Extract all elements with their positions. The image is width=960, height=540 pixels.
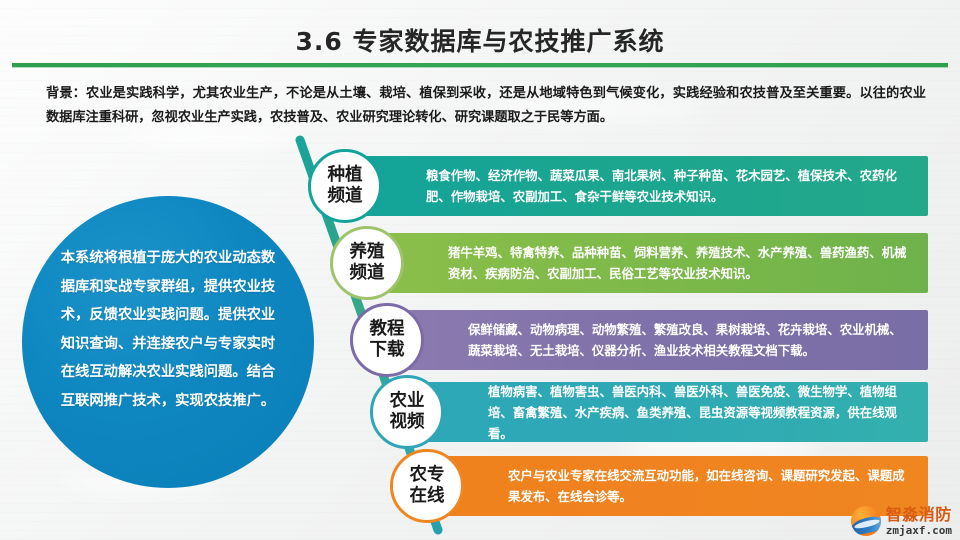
channel-row-agriculture-video[interactable]: 植物病害、植物害虫、兽医内科、兽医外科、兽医免疫、微生物学、植物组培、畜禽繁殖、… (392, 382, 928, 442)
channel-description: 保鲜储藏、动物病理、动物繁殖、繁殖改良、果树栽培、花卉栽培、农业机械、蔬菜栽培、… (372, 319, 928, 361)
watermark-text-block: 智淼消防 zmjaxf.com (886, 507, 952, 536)
channel-description: 粮食作物、经济作物、蔬菜瓜果、南北果树、种子种苗、花木园艺、植保技术、农药化肥、… (330, 165, 928, 207)
channel-bar: 粮食作物、经济作物、蔬菜瓜果、南北果树、种子种苗、花木园艺、植保技术、农药化肥、… (330, 156, 928, 216)
summary-circle: 本系统将根植于庞大的农业动态数据库和实战专家群组，提供农业技术，反馈农业实践问题… (22, 196, 314, 488)
slide-canvas: 3.6 专家数据库与农技推广系统 背景：农业是实践科学，尤其农业生产，不论是从土… (0, 0, 960, 540)
channel-description: 植物病害、植物害虫、兽医内科、兽医外科、兽医免疫、微生物学、植物组培、畜禽繁殖、… (392, 381, 928, 444)
channel-row-breeding[interactable]: 猪牛羊鸡、特禽特养、品种种苗、饲料营养、养殖技术、水产养殖、兽药渔药、机械资材、… (352, 233, 928, 293)
channel-description: 猪牛羊鸡、特禽特养、品种种苗、饲料营养、养殖技术、水产养殖、兽药渔药、机械资材、… (352, 242, 928, 284)
badge-label: 农业视频 (390, 391, 425, 433)
channel-badge-planting[interactable]: 种植频道 (308, 149, 382, 223)
summary-circle-text: 本系统将根植于庞大的农业动态数据库和实战专家群组，提供农业技术，反馈农业实践问题… (56, 244, 280, 415)
channel-bar: 保鲜储藏、动物病理、动物繁殖、繁殖改良、果树栽培、花卉栽培、农业机械、蔬菜栽培、… (372, 310, 928, 370)
background-note-paragraph: 背景：农业是实践科学，尤其农业生产，不论是从土壤、栽培、植保到采收，还是从地域特… (46, 82, 926, 130)
channel-bar: 植物病害、植物害虫、兽医内科、兽医外科、兽医免疫、微生物学、植物组培、畜禽繁殖、… (392, 382, 928, 442)
page-title: 3.6 专家数据库与农技推广系统 (296, 27, 665, 56)
channel-badge-expert-online[interactable]: 农专在线 (390, 449, 464, 523)
title-divider-rule-shadow (12, 67, 948, 68)
channel-description: 农户与农业专家在线交流互动功能，如在线咨询、课题研究发起、课题成果发布、在线会诊… (412, 465, 928, 507)
channel-row-planting[interactable]: 粮食作物、经济作物、蔬菜瓜果、南北果树、种子种苗、花木园艺、植保技术、农药化肥、… (330, 156, 928, 216)
brand-url: zmjaxf.com (886, 525, 952, 536)
title-bar: 3.6 专家数据库与农技推广系统 (0, 22, 960, 58)
channel-badge-tutorial-download[interactable]: 教程下载 (350, 303, 424, 377)
channel-bar: 猪牛羊鸡、特禽特养、品种种苗、饲料营养、养殖技术、水产养殖、兽药渔药、机械资材、… (352, 233, 928, 293)
brand-name: 智淼消防 (886, 507, 952, 523)
brand-logo-icon (851, 506, 881, 536)
badge-label: 教程下载 (370, 319, 405, 361)
channel-badge-breeding[interactable]: 养殖频道 (330, 226, 404, 300)
watermark: 智淼消防 zmjaxf.com (851, 506, 952, 536)
channel-badge-agriculture-video[interactable]: 农业视频 (370, 375, 444, 449)
badge-label: 农专在线 (410, 465, 445, 507)
badge-label: 种植频道 (328, 165, 363, 207)
channel-row-tutorial-download[interactable]: 保鲜储藏、动物病理、动物繁殖、繁殖改良、果树栽培、花卉栽培、农业机械、蔬菜栽培、… (372, 310, 928, 370)
badge-label: 养殖频道 (350, 242, 385, 284)
